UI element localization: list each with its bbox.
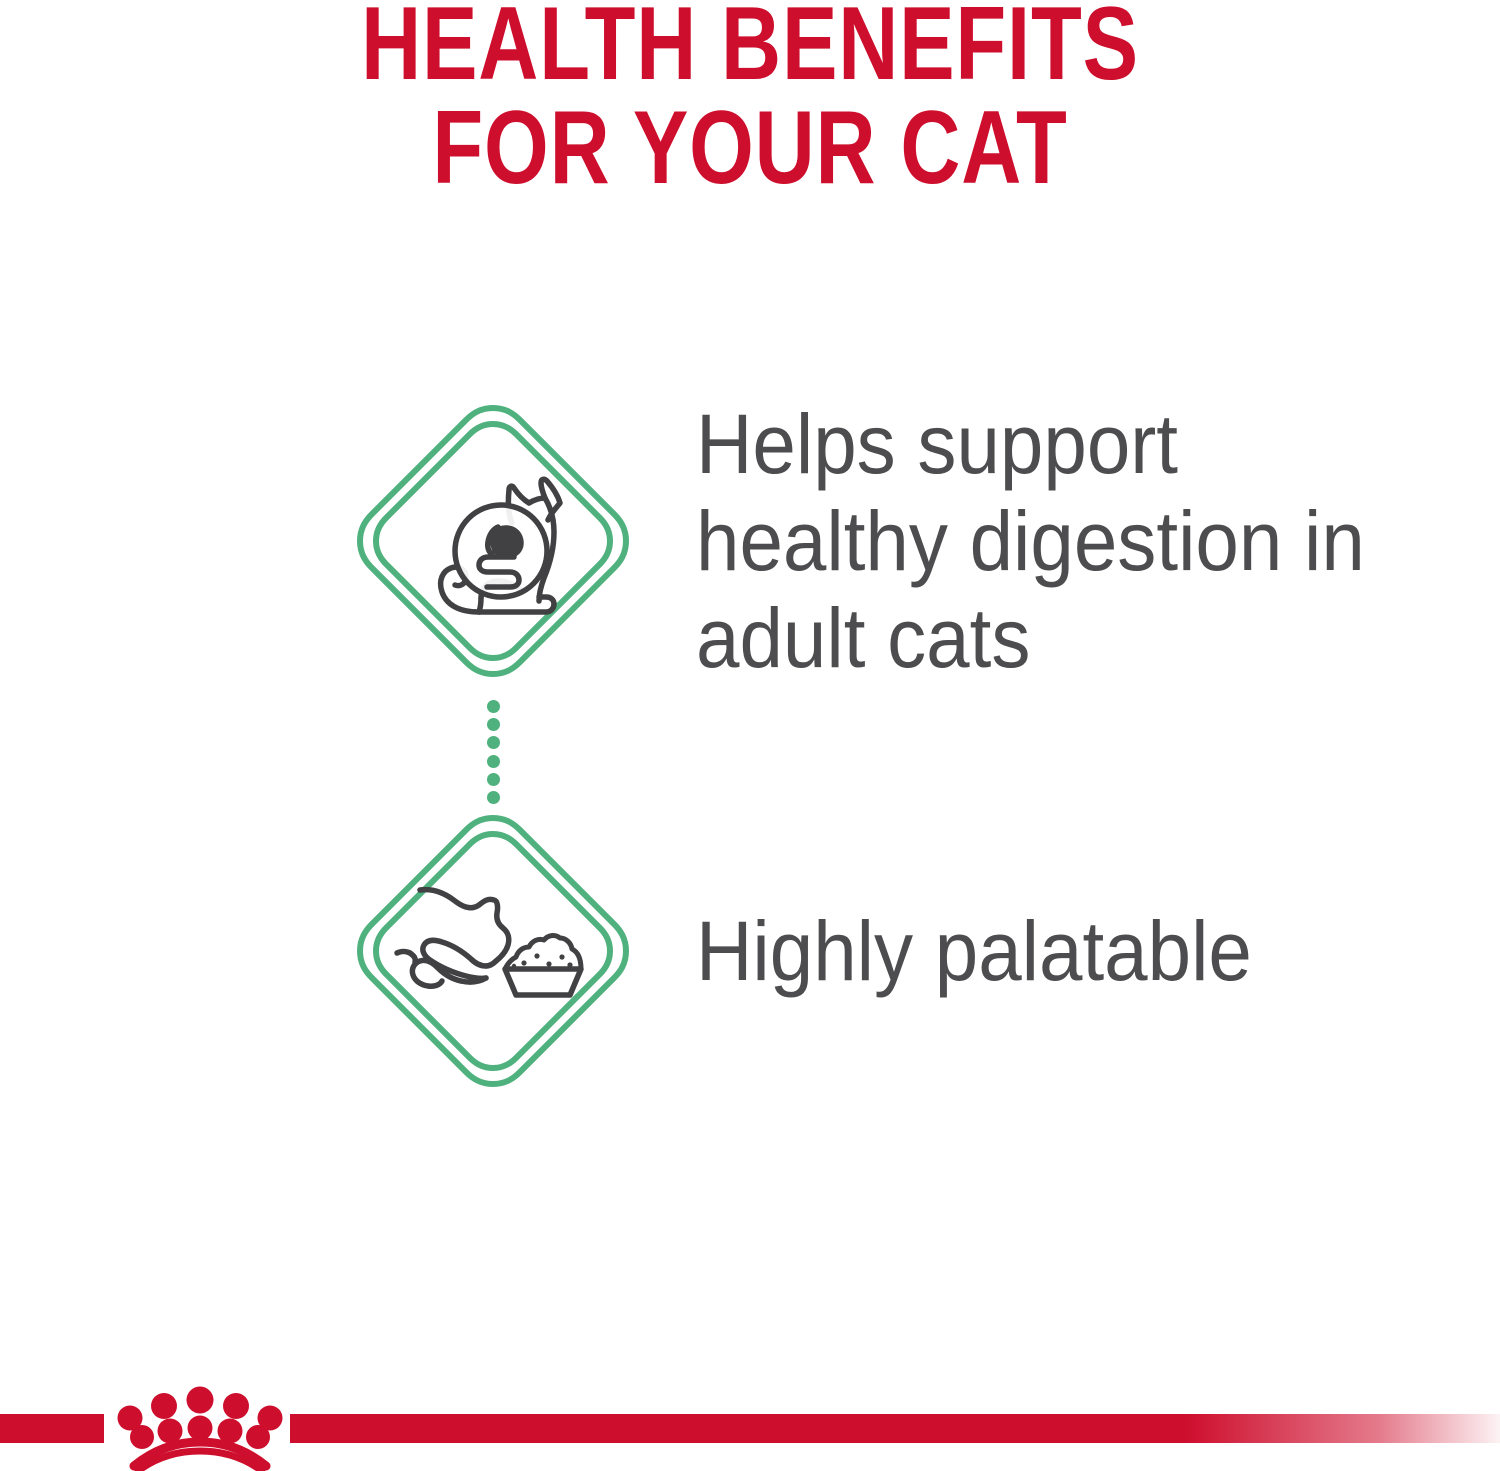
connector-dot [487, 700, 500, 713]
benefit-item: Highly palatable [0, 806, 1500, 1096]
connector-dot [487, 791, 500, 804]
connector-dot [487, 755, 500, 768]
royal-canin-crown-logo [112, 1380, 288, 1471]
footer-bar-left [0, 1414, 104, 1443]
page-title-line-1: HEALTH BENEFITS [150, 0, 1350, 96]
benefits-list: Helps support healthy digestion in adult… [0, 396, 1500, 1096]
benefit-text: Helps support healthy digestion in adult… [696, 396, 1444, 687]
footer [0, 1370, 1500, 1471]
footer-bar-right [290, 1414, 1500, 1443]
connector-dot [487, 773, 500, 786]
benefit-item: Helps support healthy digestion in adult… [0, 396, 1500, 686]
cat-eating-bowl-icon [348, 806, 638, 1096]
page-title-line-2: FOR YOUR CAT [150, 96, 1350, 200]
connector-dot [487, 736, 500, 749]
dotted-connector [483, 700, 503, 804]
benefit-text: Highly palatable [696, 903, 1252, 1000]
page-title: HEALTH BENEFITS FOR YOUR CAT [0, 0, 1500, 200]
cat-digestion-icon [348, 396, 638, 686]
connector-dot [487, 718, 500, 731]
